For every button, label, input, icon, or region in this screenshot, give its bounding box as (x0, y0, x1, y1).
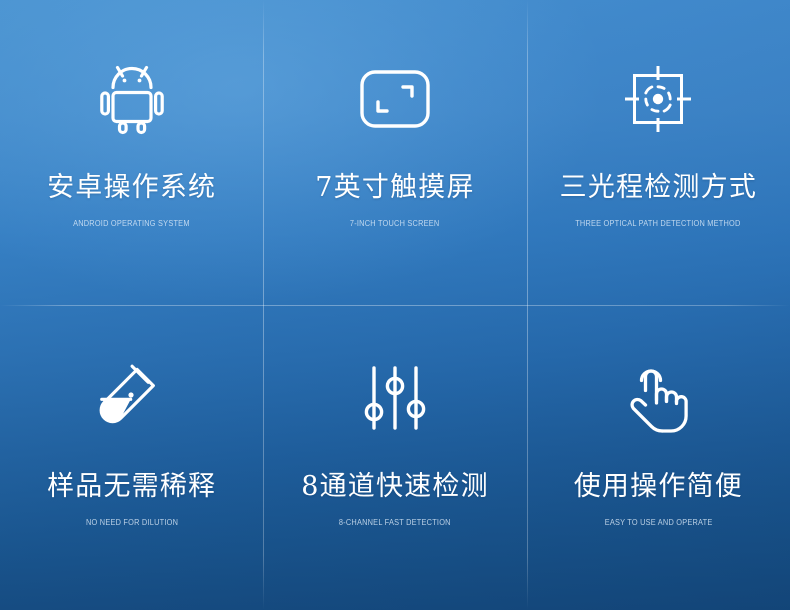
feature-grid: 安卓操作系统 ANDROID OPERATING SYSTEM 7英寸触摸屏 7… (0, 0, 790, 610)
feature-cell-touch-screen[interactable]: 7英寸触摸屏 7-INCH TOUCH SCREEN (263, 0, 526, 305)
feature-title-cn: 使用操作简便 (574, 473, 743, 500)
crosshair-target-icon (625, 38, 691, 160)
feature-title-en: THREE OPTICAL PATH DETECTION METHOD (576, 219, 741, 228)
feature-title-cn: 7英寸触摸屏 (315, 174, 474, 201)
feature-title-en: 8-CHANNEL FAST DETECTION (339, 518, 451, 527)
feature-title-cn: 8通道快速检测 (301, 473, 489, 500)
feature-title-en: ANDROID OPERATING SYSTEM (73, 219, 190, 228)
feature-cell-fast-detection[interactable]: 8通道快速检测 8-CHANNEL FAST DETECTION (263, 305, 526, 610)
feature-title-cn: 样品无需稀释 (47, 473, 216, 500)
feature-cell-no-dilution[interactable]: 样品无需稀释 NO NEED FOR DILUTION (0, 305, 263, 610)
feature-cell-android-operating-system[interactable]: 安卓操作系统 ANDROID OPERATING SYSTEM (0, 0, 263, 305)
feature-cell-easy-to-operate[interactable]: 使用操作简便 EASY TO USE AND OPERATE (527, 305, 790, 610)
android-robot-icon (100, 38, 164, 160)
test-tube-icon (99, 337, 165, 459)
sliders-icon (365, 337, 425, 459)
feature-title-cn: 安卓操作系统 (47, 174, 216, 201)
feature-highlights-panel: 安卓操作系统 ANDROID OPERATING SYSTEM 7英寸触摸屏 7… (0, 0, 790, 610)
tap-hand-icon (627, 337, 689, 459)
feature-title-en: EASY TO USE AND OPERATE (604, 518, 712, 527)
feature-cell-optical-path-detection[interactable]: 三光程检测方式 THREE OPTICAL PATH DETECTION MET… (527, 0, 790, 305)
feature-title-cn: 三光程检测方式 (560, 174, 757, 201)
feature-title-en: NO NEED FOR DILUTION (86, 518, 178, 527)
feature-title-en: 7-INCH TOUCH SCREEN (350, 219, 440, 228)
touch-screen-icon (360, 38, 430, 160)
